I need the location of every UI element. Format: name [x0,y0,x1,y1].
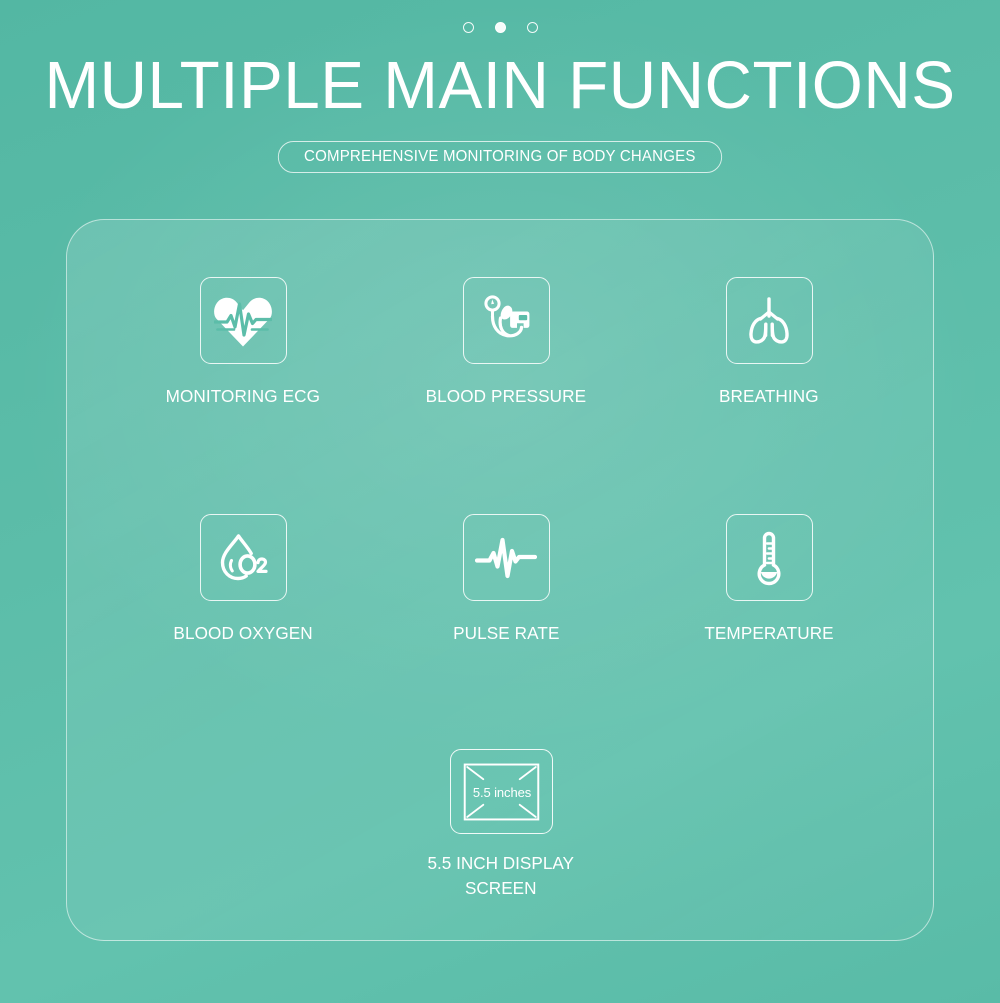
carousel-dot-1[interactable] [463,22,474,33]
screen-size-value: 5.5 inches [451,750,554,835]
features-row-2: BLOOD OXYGEN PULSE RATE [111,514,901,645]
carousel-dot-2-active[interactable] [495,22,506,33]
product-feature-poster: MULTIPLE MAIN FUNCTIONS COMPREHENSIVE MO… [0,0,1000,1003]
lungs-icon [726,277,813,364]
screen-size-icon: 5.5 inches [450,749,553,834]
feature-monitoring-ecg[interactable]: MONITORING ECG [112,277,375,408]
feature-blood-pressure[interactable]: BLOOD PRESSURE [375,277,638,408]
feature-label: MONITORING ECG [166,385,320,408]
display-label-line-2: SCREEN [465,878,536,898]
feature-label: BLOOD OXYGEN [173,622,312,645]
feature-blood-oxygen[interactable]: BLOOD OXYGEN [112,514,375,645]
water-drop-o2-icon [200,514,287,601]
feature-label: 5.5 INCH DISPLAY SCREEN [428,851,574,901]
feature-label: BREATHING [719,385,819,408]
feature-label: PULSE RATE [453,622,559,645]
feature-label: TEMPERATURE [704,622,833,645]
page-title: MULTIPLE MAIN FUNCTIONS [10,48,990,124]
subtitle-pill: COMPREHENSIVE MONITORING OF BODY CHANGES [278,141,722,173]
thermometer-icon [726,514,813,601]
blood-pressure-monitor-icon [463,277,550,364]
feature-temperature[interactable]: TEMPERATURE [638,514,901,645]
carousel-dot-3[interactable] [527,22,538,33]
carousel-dots [0,22,1000,33]
pulse-waveform-icon [463,514,550,601]
feature-pulse-rate[interactable]: PULSE RATE [375,514,638,645]
feature-label: BLOOD PRESSURE [426,385,587,408]
feature-display-screen[interactable]: 5.5 inches 5.5 INCH DISPLAY SCREEN [67,749,935,901]
subtitle-container: COMPREHENSIVE MONITORING OF BODY CHANGES [0,141,1000,173]
display-label-line-1: 5.5 INCH DISPLAY [428,853,574,873]
heart-ecg-icon [200,277,287,364]
features-row-1: MONITORING ECG [111,277,901,408]
feature-breathing[interactable]: BREATHING [638,277,901,408]
features-card: MONITORING ECG [66,219,934,941]
